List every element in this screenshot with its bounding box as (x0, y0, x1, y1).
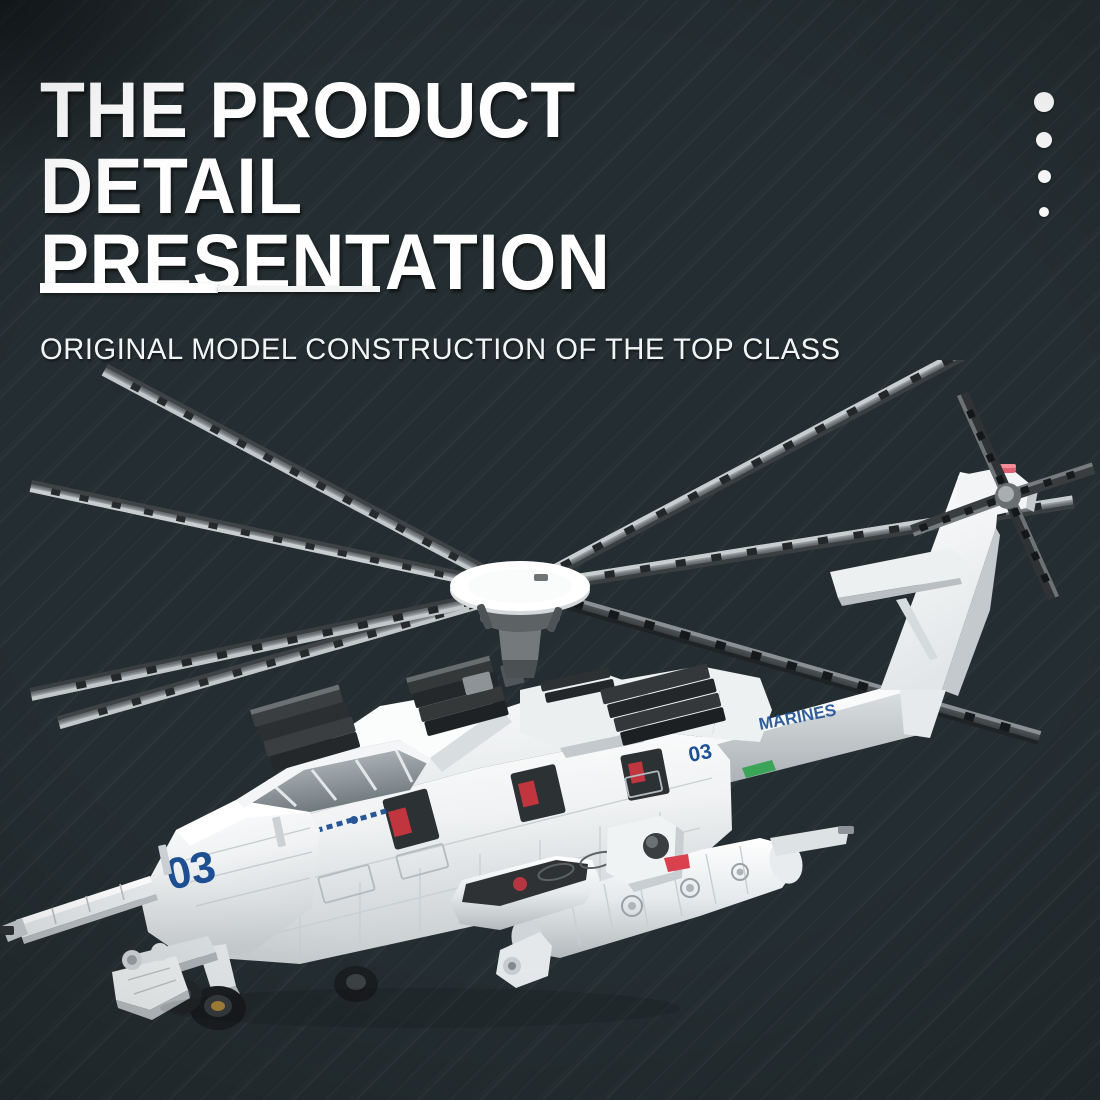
product-detail-banner: THE PRODUCT DETAIL PRESENTATION ORIGINAL… (0, 0, 1100, 1100)
background-vignette (0, 0, 1100, 1100)
